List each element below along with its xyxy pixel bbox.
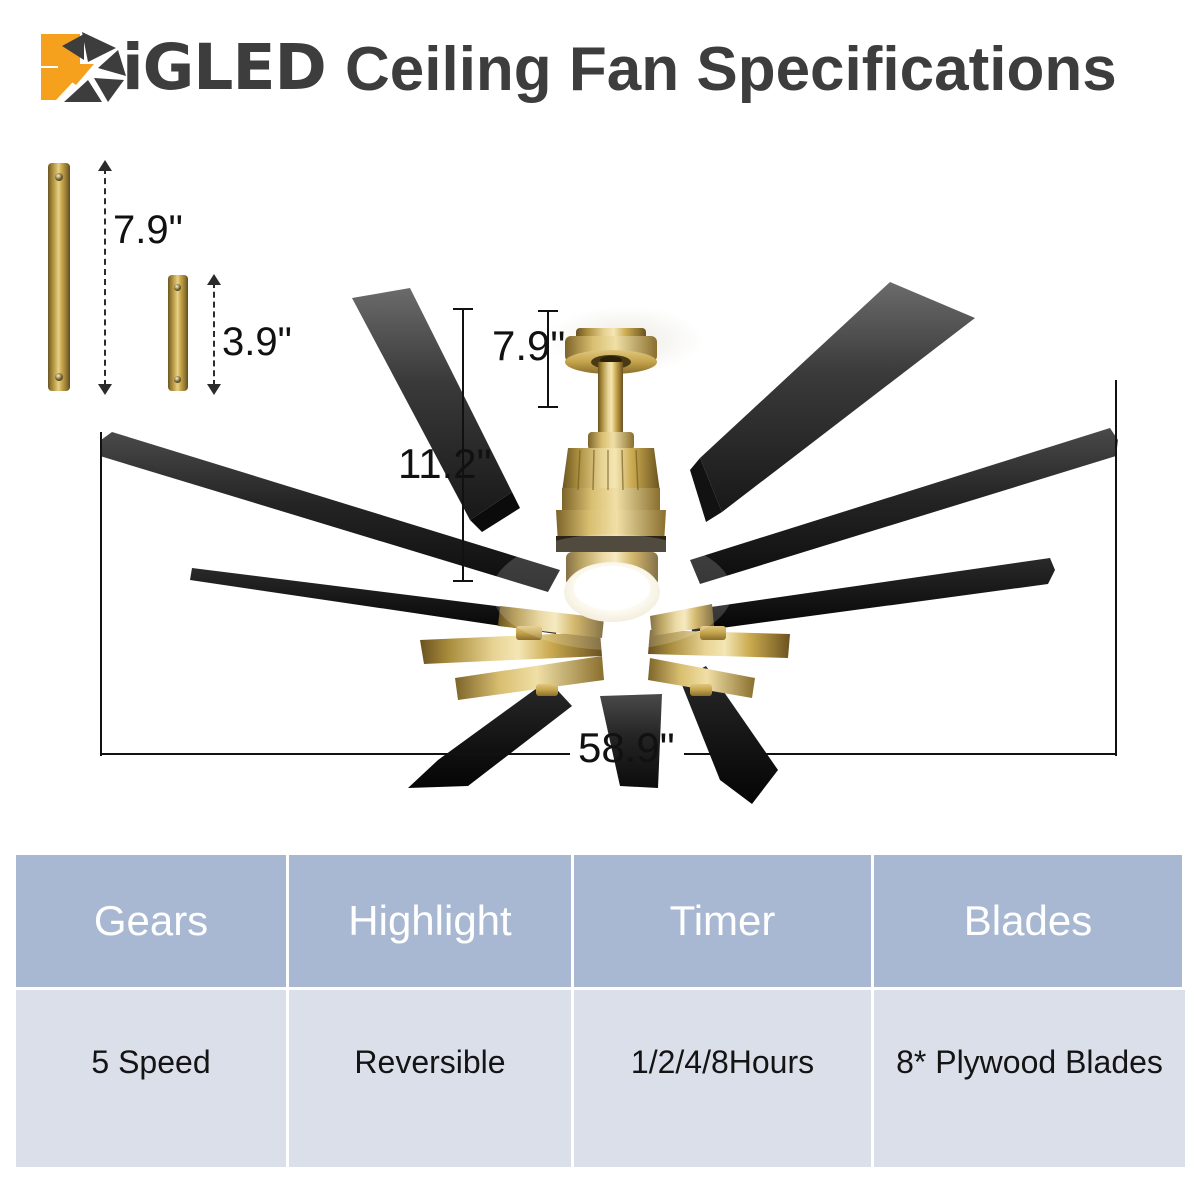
fan-blade bbox=[408, 680, 572, 788]
dim-body-height-tick-bottom bbox=[453, 580, 473, 582]
dim-span-line-right bbox=[684, 753, 1117, 755]
dim-span-label: 58.9" bbox=[578, 724, 675, 772]
table-header-highlight: Highlight bbox=[289, 855, 574, 990]
table-value-highlight: Reversible bbox=[289, 990, 574, 1167]
table-header-gears: Gears bbox=[16, 855, 289, 990]
fan-blade bbox=[700, 282, 975, 512]
dim-body-height-label: 11.2" bbox=[398, 440, 492, 488]
dim-span-line-left bbox=[100, 753, 570, 755]
dim-drop-height-label: 7.9" bbox=[492, 322, 565, 370]
fan-diagram: 7.9" 3.9" bbox=[0, 140, 1200, 830]
table-header-timer: Timer bbox=[574, 855, 874, 990]
aperture-logo-icon bbox=[38, 28, 134, 106]
dim-drop-height-tick-bottom bbox=[538, 406, 558, 408]
table-value-timer: 1/2/4/8Hours bbox=[574, 990, 874, 1167]
table-value-gears: 5 Speed bbox=[16, 990, 289, 1167]
page-title: Ceiling Fan Specifications bbox=[345, 34, 1117, 106]
table-value-blades: 8* Plywood Blades bbox=[874, 990, 1185, 1167]
dim-span-boundary-right bbox=[1115, 380, 1117, 756]
page-header: iGLED Ceiling Fan Specifications bbox=[0, 0, 1200, 140]
dim-span-boundary-left bbox=[100, 432, 102, 756]
table-header-blades: Blades bbox=[874, 855, 1185, 990]
dim-drop-height-tick-top bbox=[538, 310, 558, 312]
dim-body-height-tick-top bbox=[453, 308, 473, 310]
specifications-table: Gears Highlight Timer Blades 5 Speed Rev… bbox=[16, 855, 1185, 1167]
brand-wordmark: iGLED bbox=[122, 33, 326, 103]
